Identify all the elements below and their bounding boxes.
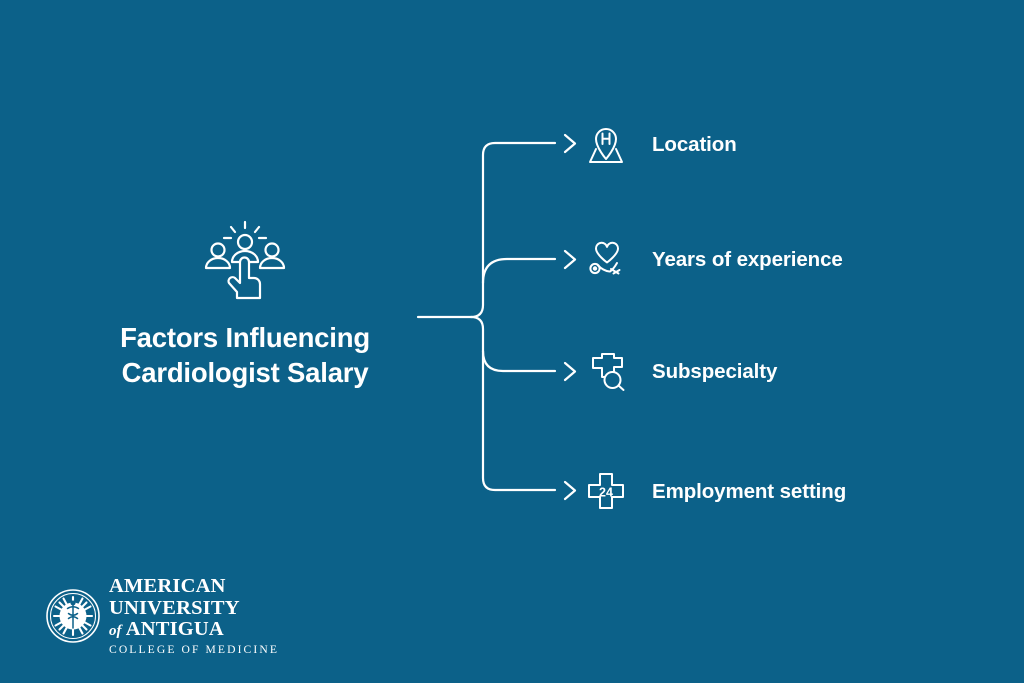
branch-label-years-of-experience: Years of experience (652, 248, 843, 272)
connector-branch-2 (483, 259, 555, 283)
aua-logo: AMERICAN UNIVERSITY of ANTIGUA COLLEGE O… (46, 576, 279, 655)
medical-cross-24-icon: 24 (584, 470, 628, 514)
arrowhead-4 (565, 482, 575, 499)
branch-item-employment-setting[interactable]: 24 Employment setting (584, 464, 846, 520)
people-group-insight-icon (197, 218, 293, 300)
title-line-1: Factors Influencing (120, 320, 370, 355)
aua-seal-icon (46, 589, 100, 643)
branch-label-location: Location (652, 133, 737, 157)
logo-of: of (109, 623, 122, 639)
logo-line-university: UNIVERSITY (109, 598, 279, 619)
connector-trunk-down (471, 317, 555, 490)
branch-item-subspecialty[interactable]: Subspecialty (584, 344, 777, 400)
heart-stethoscope-icon (584, 238, 628, 282)
medical-cross-24-label: 24 (599, 486, 613, 500)
connector-trunk-up (471, 143, 555, 317)
title-line-2: Cardiologist Salary (120, 355, 370, 390)
arrowhead-2 (565, 251, 575, 268)
logo-line-american: AMERICAN (109, 576, 279, 597)
logo-line-antigua: of ANTIGUA (109, 619, 279, 640)
logo-antigua: ANTIGUA (126, 618, 224, 640)
branch-item-years-of-experience[interactable]: Years of experience (584, 232, 843, 288)
aua-logo-text: AMERICAN UNIVERSITY of ANTIGUA COLLEGE O… (109, 576, 279, 655)
branch-label-employment-setting: Employment setting (652, 480, 846, 504)
branch-item-location[interactable]: Location (584, 117, 737, 173)
logo-line-college-of-medicine: COLLEGE OF MEDICINE (109, 644, 279, 656)
arrowhead-3 (565, 363, 575, 380)
page-title: Factors Influencing Cardiologist Salary (120, 320, 370, 390)
medical-cross-magnifier-icon (584, 350, 628, 394)
map-pin-hospital-icon (584, 123, 628, 167)
branch-label-subspecialty: Subspecialty (652, 360, 777, 384)
arrowhead-1 (565, 135, 575, 152)
infographic-canvas: Factors Influencing Cardiologist Salary … (0, 0, 1024, 683)
connector-branch-3 (483, 351, 555, 371)
center-node: Factors Influencing Cardiologist Salary (60, 218, 430, 390)
